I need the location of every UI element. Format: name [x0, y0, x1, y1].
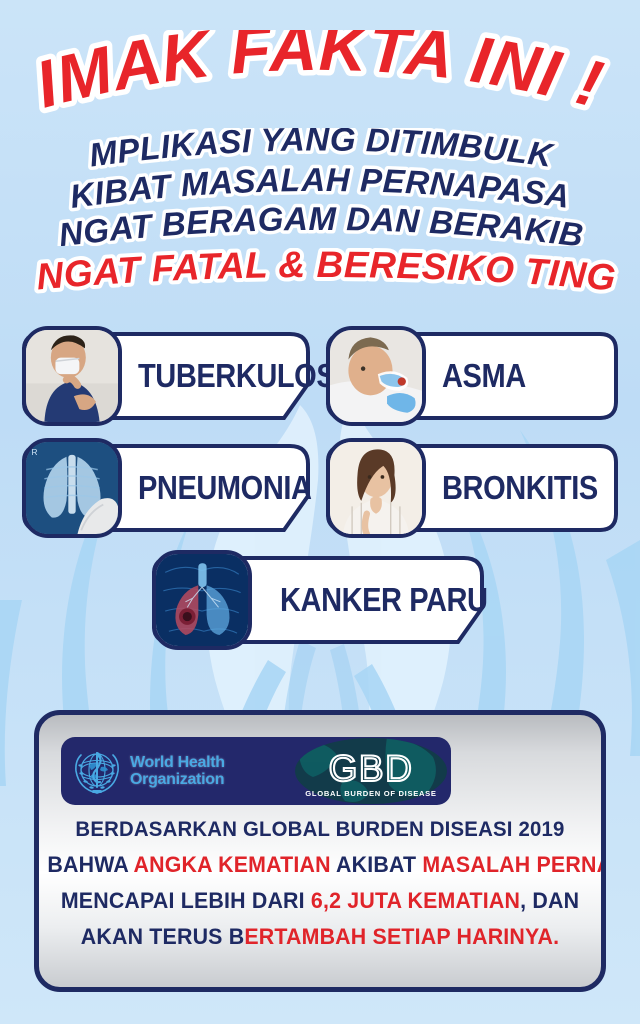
disease-card-asma[interactable]: ASMA	[326, 332, 618, 420]
emphasis-line: SANGAT FATAL & BERESIKO TINGGI	[10, 248, 630, 298]
disease-card-pneumonia[interactable]: R PNEUMONIA	[22, 444, 314, 532]
subtitle-container: KOMPLIKASI YANG DITIMBULKAN AKIBAT MASAL…	[0, 128, 640, 246]
main-title-text: SIMAK FAKTA INI !!!	[20, 30, 611, 122]
thumbnail-woman-coughing	[326, 438, 426, 538]
line2-seg-4: MASALAH PERNAPASAN	[422, 852, 606, 877]
main-title: SIMAK FAKTA INI !!!	[20, 30, 620, 122]
svg-text:SIMAK FAKTA INI !!!: SIMAK FAKTA INI !!!	[20, 30, 611, 122]
statistics-line-1: BERDASARKAN GLOBAL BURDEN DISEASI 2019	[47, 819, 592, 840]
thumbnail-lung-cancer-anatomy	[152, 550, 252, 650]
gbd-logo: GBD GLOBAL BURDEN OF DISEASE	[291, 737, 451, 805]
chest-xray-photo: R	[26, 442, 118, 534]
man-coughing-mask-photo	[26, 330, 118, 422]
statistics-line-4: AKAN TERUS BERTAMBAH SETIAP HARINYA.	[47, 926, 592, 948]
line4-seg-2: ERTAMBAH SETIAP HARINYA.	[244, 924, 559, 949]
thumbnail-man-nebulizer	[326, 326, 426, 426]
infographic-poster: SIMAK FAKTA INI !!! KOMPLIKASI YANG DITI…	[0, 0, 640, 1024]
emphasis-text: SANGAT FATAL & BERESIKO TINGGI	[10, 248, 618, 298]
who-line-1: World Health	[130, 754, 225, 771]
card-label-asma: ASMA	[442, 332, 526, 420]
card-row-2: R PNEUMONIA	[0, 444, 640, 556]
thumbnail-man-coughing-mask	[22, 326, 122, 426]
line4-seg-1: AKAN TERUS B	[81, 924, 245, 949]
disease-card-bronkitis[interactable]: BRONKITIS	[326, 444, 618, 532]
title-container: SIMAK FAKTA INI !!!	[0, 30, 640, 122]
disease-card-tuberkulosis[interactable]: TUBERKULOSIS	[22, 332, 314, 420]
statistics-panel: World Health Organization GBD	[34, 710, 606, 992]
line3-seg-1: MENCAPAI LEBIH DARI	[61, 888, 311, 913]
lung-cancer-anatomy-photo	[156, 554, 248, 646]
gbd-tagline: GLOBAL BURDEN OF DISEASE	[305, 789, 436, 798]
man-nebulizer-mask-photo	[330, 330, 422, 422]
statistics-text: BERDASARKAN GLOBAL BURDEN DISEASI 2019 B…	[39, 819, 601, 962]
gbd-globe-icon: GBD GLOBAL BURDEN OF DISEASE	[291, 737, 451, 805]
card-label-kanker-paru: KANKER PARU	[280, 556, 488, 644]
poster-header: SIMAK FAKTA INI !!! KOMPLIKASI YANG DITI…	[0, 0, 640, 294]
card-row-1: TUBERKULOSIS	[0, 332, 640, 444]
who-emblem-icon	[69, 743, 125, 799]
line3-seg-3: , DAN	[520, 888, 579, 913]
card-label-bronkitis: BRONKITIS	[442, 444, 598, 532]
emphasis-container: SANGAT FATAL & BERESIKO TINGGI	[0, 248, 640, 294]
disease-card-kanker-paru[interactable]: KANKER PARU	[152, 556, 488, 644]
logo-bar: World Health Organization GBD	[61, 737, 451, 805]
who-logo-text: World Health Organization	[130, 754, 225, 788]
subtitle-arcs: KOMPLIKASI YANG DITIMBULKAN AKIBAT MASAL…	[20, 128, 620, 246]
svg-text:SANGAT FATAL & BERESIKO TINGGI: SANGAT FATAL & BERESIKO TINGGI	[10, 248, 618, 298]
disease-card-list: TUBERKULOSIS	[0, 332, 640, 668]
card-label-pneumonia: PNEUMONIA	[138, 444, 312, 532]
line3-seg-2: 6,2 JUTA KEMATIAN	[311, 888, 520, 913]
woman-coughing-photo	[330, 442, 422, 534]
thumbnail-chest-xray: R	[22, 438, 122, 538]
card-row-3: KANKER PARU	[0, 556, 640, 668]
line2-seg-1: BAHWA	[47, 852, 133, 877]
statistics-line-2: BAHWA ANGKA KEMATIAN AKIBAT MASALAH PERN…	[47, 854, 592, 876]
gbd-acronym: GBD	[329, 748, 414, 789]
line2-seg-3: AKIBAT	[336, 852, 422, 877]
who-logo: World Health Organization	[61, 743, 225, 799]
statistics-line-3: MENCAPAI LEBIH DARI 6,2 JUTA KEMATIAN, D…	[47, 890, 592, 912]
line2-seg-2: ANGKA KEMATIAN	[134, 852, 336, 877]
svg-text:R: R	[32, 448, 38, 457]
who-line-2: Organization	[130, 771, 225, 788]
